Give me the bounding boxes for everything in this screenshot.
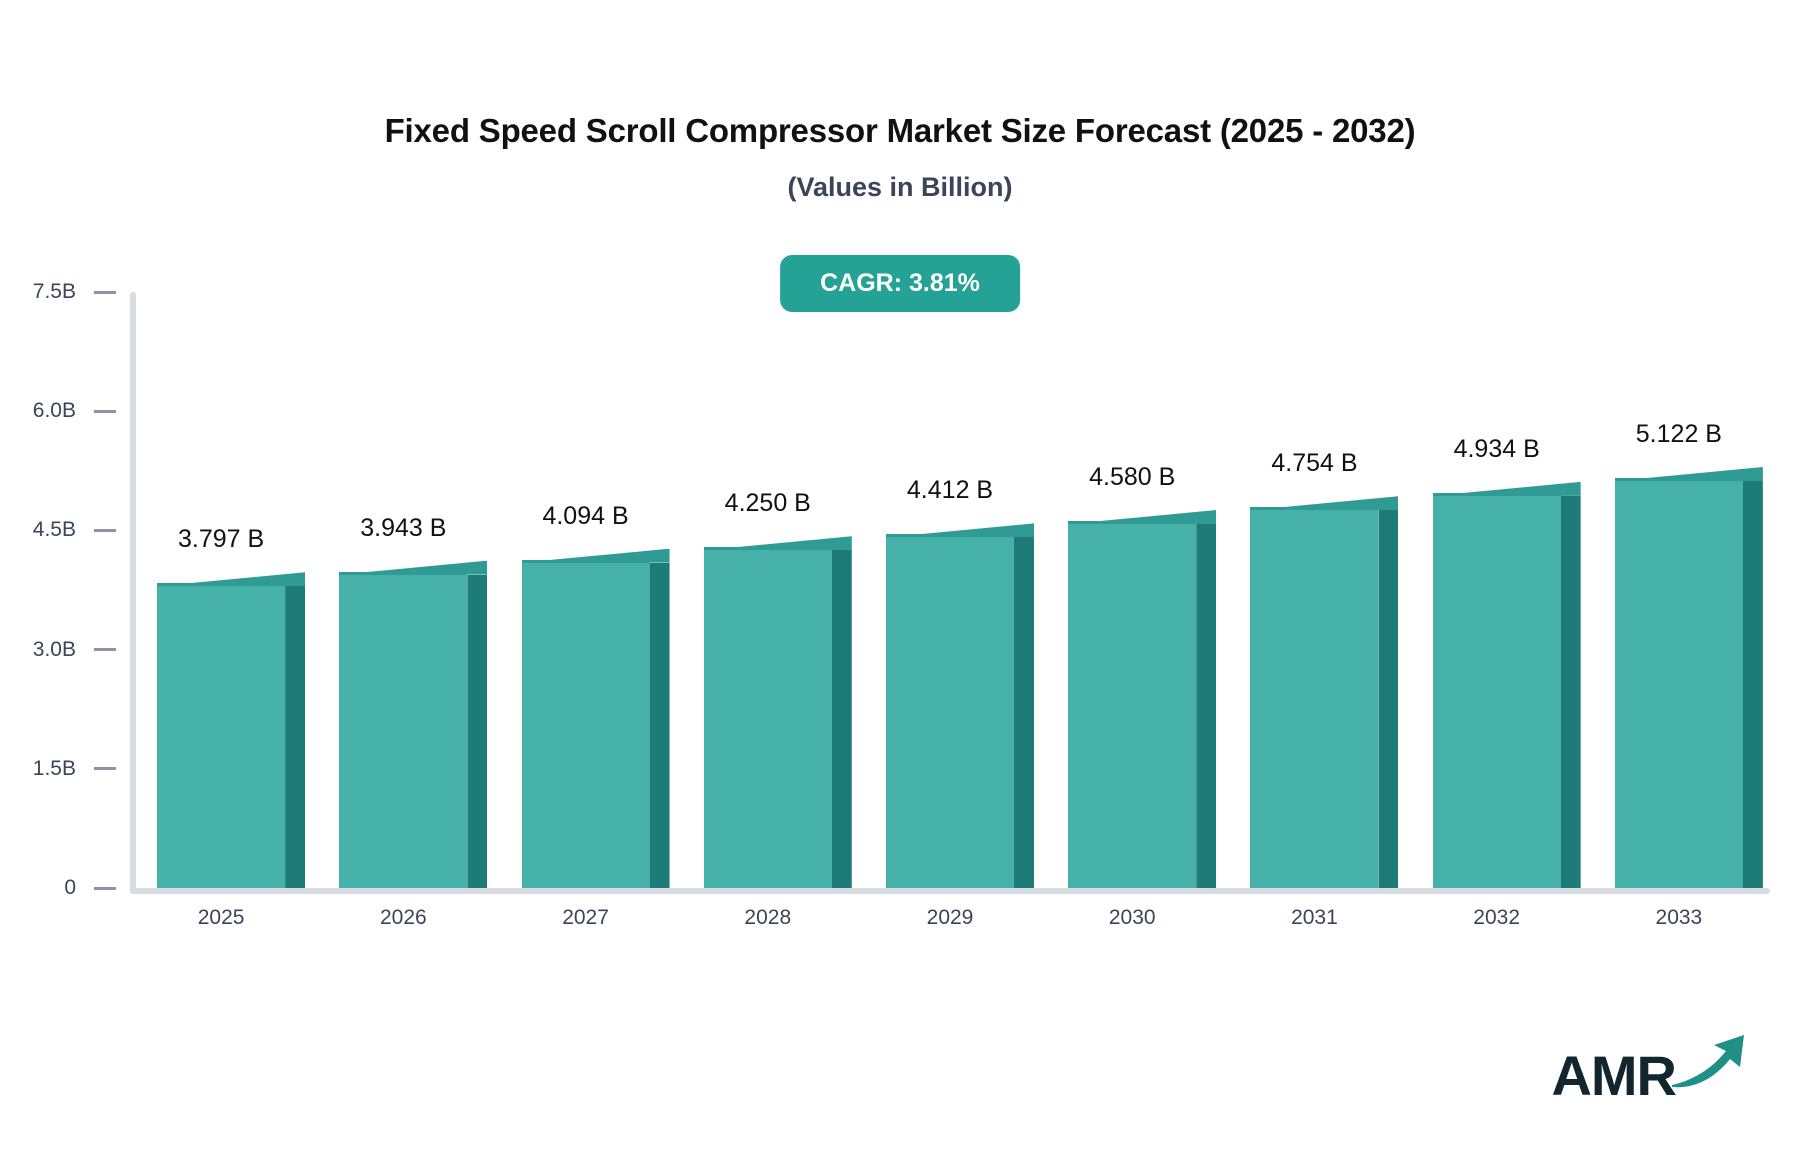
bar-value-label: 4.250 B (725, 489, 811, 518)
y-axis-tick-label: 6.0B (33, 399, 76, 423)
bar-front-face (704, 550, 832, 888)
bar-top-edge (1615, 478, 1743, 481)
bar-side-face (467, 575, 487, 888)
amr-logo: AMR (1551, 1031, 1748, 1104)
bar[interactable] (704, 550, 832, 888)
bar-series: 3.797 B20253.943 B20264.094 B20274.250 B… (130, 292, 1770, 892)
bar[interactable] (886, 537, 1014, 888)
x-axis-tick-label: 2027 (562, 906, 609, 930)
bar-value-label: 4.094 B (542, 502, 628, 531)
bar-column[interactable]: 4.754 B2031 (1250, 288, 1378, 888)
bar-front-face (157, 586, 285, 888)
y-axis-tick: 1.5B (33, 757, 130, 781)
bar-top-edge (1250, 507, 1378, 510)
bar-column[interactable]: 3.943 B2026 (339, 288, 467, 888)
bar-column[interactable]: 4.580 B2030 (1068, 288, 1196, 888)
bar[interactable] (1250, 510, 1378, 888)
bar-top-edge (886, 534, 1014, 537)
bar-side-face (285, 586, 305, 888)
bar-column[interactable]: 4.250 B2028 (704, 288, 832, 888)
bar-side-face (1196, 524, 1216, 888)
y-axis-tick-mark (94, 529, 116, 532)
bar-side-face (832, 550, 852, 888)
y-axis-tick-mark (94, 648, 116, 651)
y-axis-tick-mark (94, 887, 116, 890)
bar-top-edge (1068, 521, 1196, 524)
bar-side-face (1378, 510, 1398, 888)
y-axis-tick-label: 4.5B (33, 518, 76, 542)
bar[interactable] (157, 586, 285, 888)
bar-value-label: 4.580 B (1089, 463, 1175, 492)
bar[interactable] (1068, 524, 1196, 888)
x-axis-tick-label: 2031 (1291, 906, 1338, 930)
bar-side-face (1743, 481, 1763, 888)
bar-value-label: 4.412 B (907, 476, 993, 505)
bar-front-face (1068, 524, 1196, 888)
y-axis-tick-label: 7.5B (33, 280, 76, 304)
bar-value-label: 4.934 B (1454, 435, 1540, 464)
bar-front-face (1615, 481, 1743, 888)
growth-arrow-icon (1670, 1031, 1748, 1098)
bar-top-edge (1433, 493, 1561, 496)
bar-front-face (1250, 510, 1378, 888)
bar-front-face (886, 537, 1014, 888)
x-axis-tick-label: 2032 (1473, 906, 1520, 930)
bar-top-edge (157, 583, 285, 586)
x-axis-tick-label: 2026 (380, 906, 427, 930)
bar-value-label: 4.754 B (1271, 449, 1357, 478)
bar-column[interactable]: 4.934 B2032 (1433, 288, 1561, 888)
bar-value-label: 5.122 B (1636, 420, 1722, 449)
x-axis-tick-label: 2029 (927, 906, 974, 930)
bar[interactable] (1615, 481, 1743, 888)
bar[interactable] (522, 563, 650, 888)
page-title: Fixed Speed Scroll Compressor Market Siz… (0, 112, 1800, 150)
amr-logo-text: AMR (1551, 1048, 1676, 1104)
y-axis-tick: 7.5B (33, 280, 130, 304)
x-axis-tick-label: 2025 (198, 906, 245, 930)
bar-front-face (1433, 496, 1561, 888)
bar[interactable] (1433, 496, 1561, 888)
y-axis-tick-mark (94, 410, 116, 413)
plot-area: 7.5B6.0B4.5B3.0B1.5B0 3.797 B20253.943 B… (130, 292, 1770, 892)
y-axis-tick: 0 (64, 876, 130, 900)
bar-front-face (522, 563, 650, 888)
y-axis-tick: 3.0B (33, 638, 130, 662)
y-axis-tick-label: 3.0B (33, 638, 76, 662)
y-axis-tick: 4.5B (33, 518, 130, 542)
bar-top-edge (704, 547, 832, 550)
bar[interactable] (339, 575, 467, 888)
bar-side-face (1561, 496, 1581, 888)
chart-page: Fixed Speed Scroll Compressor Market Siz… (0, 0, 1800, 1156)
bar-value-label: 3.943 B (360, 514, 446, 543)
bar-front-face (339, 575, 467, 888)
bar-side-face (1014, 537, 1034, 888)
chart-subtitle: (Values in Billion) (0, 172, 1800, 203)
bar-column[interactable]: 4.094 B2027 (522, 288, 650, 888)
y-axis-tick-label: 0 (64, 876, 76, 900)
bar-side-face (650, 563, 670, 888)
bar-top-edge (522, 560, 650, 563)
bar-column[interactable]: 5.122 B2033 (1615, 288, 1743, 888)
bar-column[interactable]: 3.797 B2025 (157, 288, 285, 888)
x-axis-tick-label: 2030 (1109, 906, 1156, 930)
y-axis-tick-mark (94, 291, 116, 294)
y-axis-tick-mark (94, 767, 116, 770)
bar-top-edge (339, 572, 467, 575)
bar-value-label: 3.797 B (178, 525, 264, 554)
x-axis-tick-label: 2033 (1656, 906, 1703, 930)
y-axis-tick: 6.0B (33, 399, 130, 423)
y-axis-tick-label: 1.5B (33, 757, 76, 781)
x-axis-tick-label: 2028 (744, 906, 791, 930)
bar-column[interactable]: 4.412 B2029 (886, 288, 1014, 888)
